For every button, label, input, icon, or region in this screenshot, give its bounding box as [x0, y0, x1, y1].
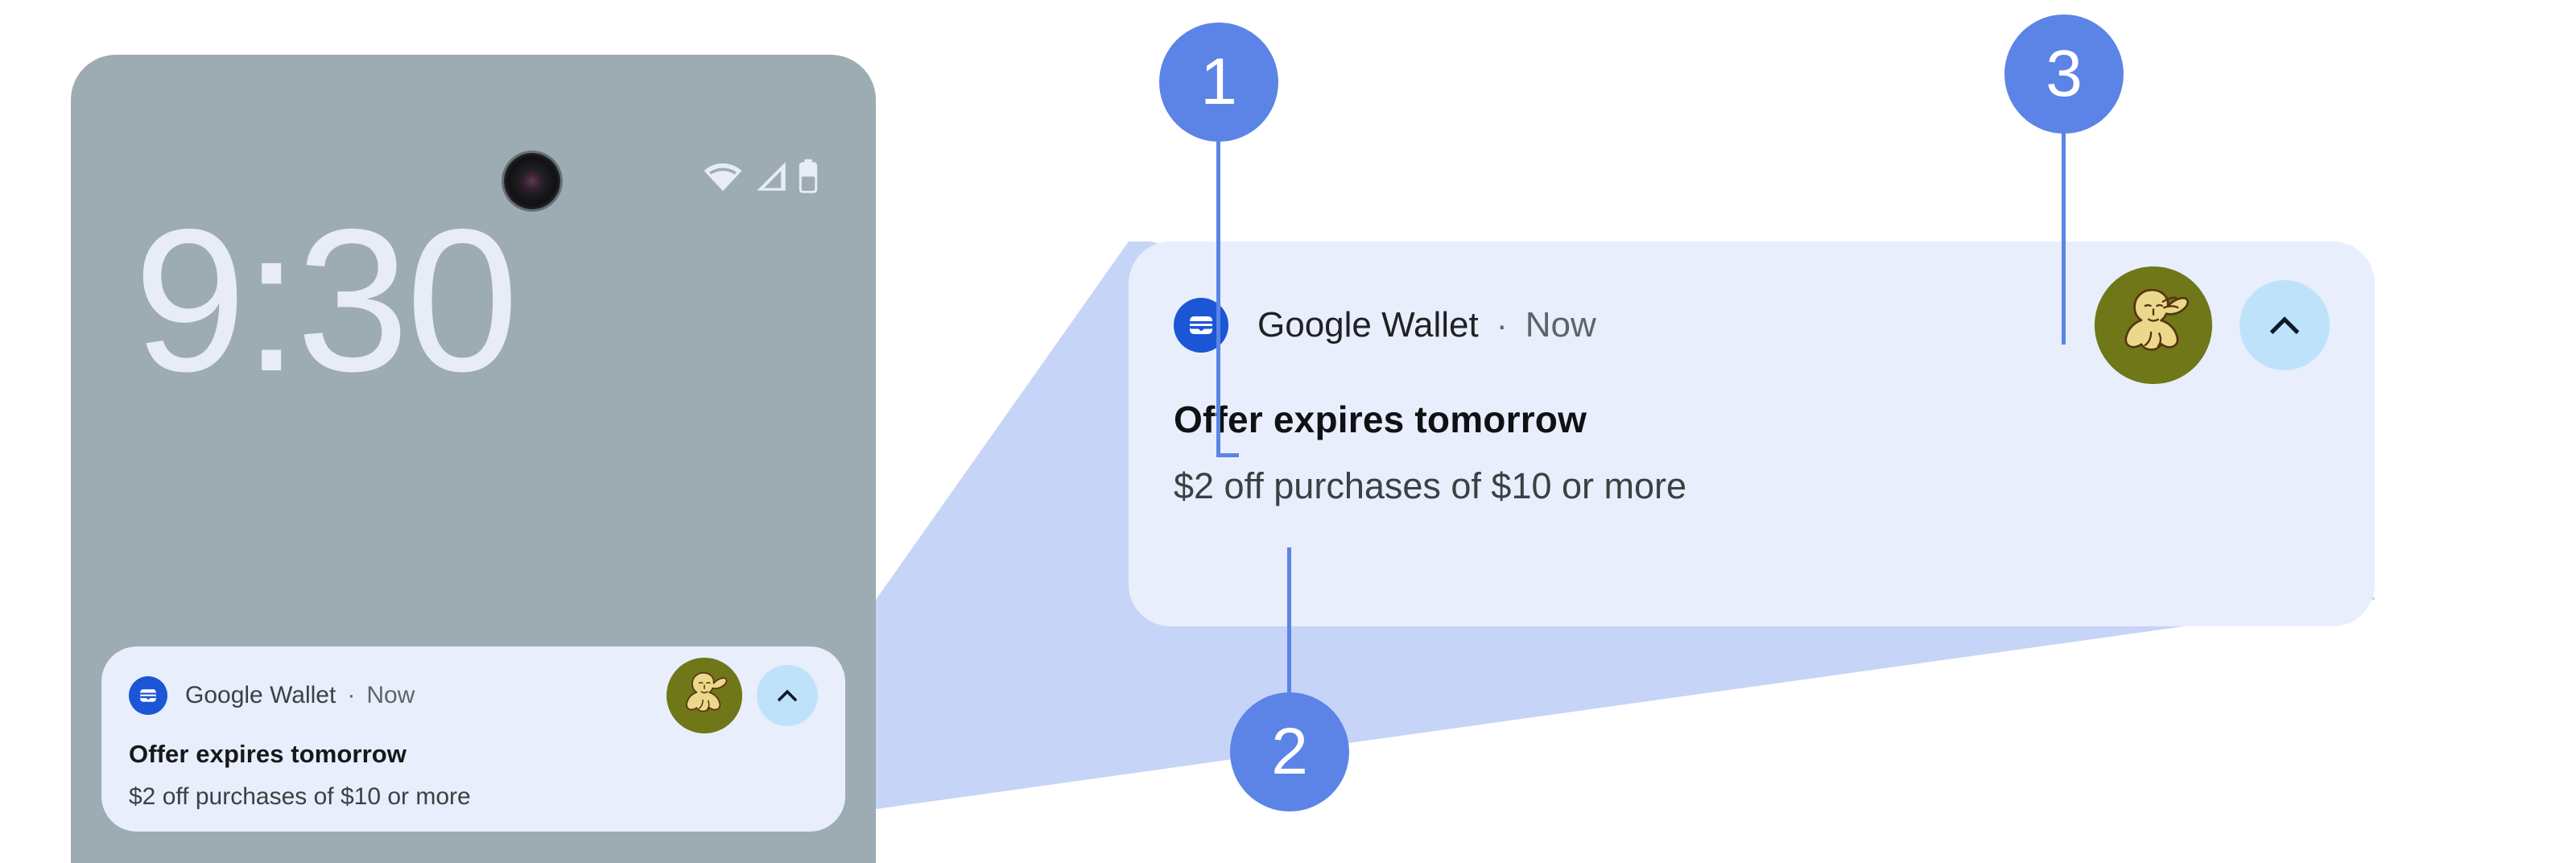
callout-3-leader-line: [2062, 111, 2066, 345]
notification-header-large: Google Wallet · Now: [1174, 283, 2330, 367]
cellular-signal-icon: [752, 159, 789, 194]
chevron-up-icon: [2263, 303, 2306, 347]
battery-icon: [797, 158, 819, 195]
notification-body-large: $2 off purchases of $10 or more: [1174, 465, 2330, 507]
google-wallet-icon: [129, 676, 167, 715]
wifi-icon: [702, 159, 744, 194]
notification-card-small[interactable]: Google Wallet · Now: [101, 646, 845, 832]
status-icon-group: [702, 158, 819, 195]
callout-badge-3[interactable]: 3: [2004, 14, 2124, 134]
notification-header-small: Google Wallet · Now: [129, 671, 818, 721]
merchant-avatar-icon: [667, 658, 742, 733]
callout-badge-2[interactable]: 2: [1230, 692, 1349, 811]
notification-separator-small: ·: [347, 682, 355, 709]
notification-app-name-large: Google Wallet: [1257, 305, 1479, 345]
notification-app-name-small: Google Wallet: [185, 682, 336, 709]
merchant-avatar-icon: [2095, 266, 2212, 384]
callout-1-leader-line: [1216, 119, 1220, 457]
notification-expand-button-small[interactable]: [757, 665, 818, 726]
notification-title-small: Offer expires tomorrow: [129, 740, 818, 769]
notification-card-large[interactable]: Google Wallet · Now: [1129, 242, 2375, 626]
callout-badge-3-number: 3: [2004, 14, 2124, 134]
notification-timestamp-small: Now: [366, 682, 415, 709]
callout-2-leader-line: [1287, 547, 1291, 696]
notification-separator-large: ·: [1496, 306, 1508, 345]
callout-1-leader-elbow: [1216, 453, 1239, 457]
chevron-up-icon: [773, 681, 802, 710]
callout-badge-1[interactable]: 1: [1159, 23, 1278, 142]
lockscreen-clock: 9:30: [134, 200, 515, 403]
phone-mockup: 9:30 Google Wallet · Now: [71, 55, 876, 863]
notification-timestamp-large: Now: [1525, 305, 1596, 345]
phone-status-bar: [71, 55, 876, 175]
notification-body-small: $2 off purchases of $10 or more: [129, 783, 818, 811]
callout-badge-1-number: 1: [1159, 23, 1278, 142]
notification-title-large: Offer expires tomorrow: [1174, 398, 2330, 441]
notification-expand-button-large[interactable]: [2240, 280, 2330, 370]
callout-badge-2-number: 2: [1230, 692, 1349, 811]
